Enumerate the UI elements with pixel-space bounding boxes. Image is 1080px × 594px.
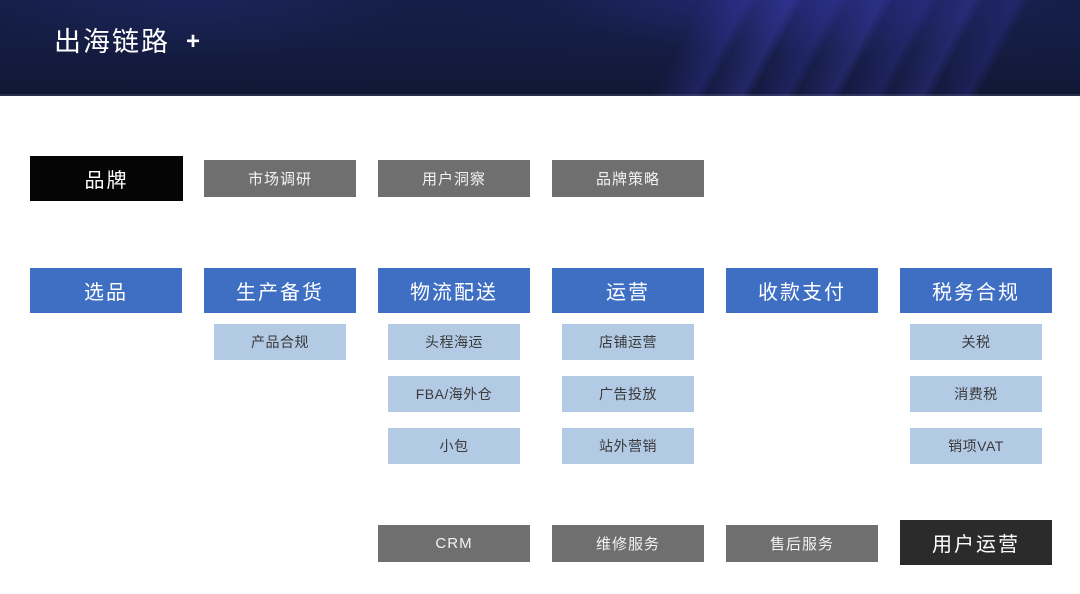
flow-diagram: 品牌 市场调研 用户洞察 品牌策略 选品 生产备货 物流配送 运营 收款支付 税… [0, 96, 1080, 594]
sub-node-tariff[interactable]: 关税 [910, 324, 1042, 360]
stage-node-payment[interactable]: 收款支付 [726, 268, 878, 313]
node-label: 用户运营 [932, 528, 1020, 557]
node-label: 店铺运营 [599, 332, 657, 352]
node-label: 头程海运 [425, 332, 483, 352]
node-label: 收款支付 [758, 276, 846, 305]
add-icon[interactable]: + [186, 22, 200, 62]
node-label: 关税 [962, 332, 991, 352]
sub-node-offsite-marketing[interactable]: 站外营销 [562, 428, 694, 464]
page-title: 出海链路 [54, 22, 170, 62]
brand-node-pinpai[interactable]: 品牌 [30, 156, 183, 201]
sub-node-product-compliance[interactable]: 产品合规 [214, 324, 346, 360]
sub-node-advertising[interactable]: 广告投放 [562, 376, 694, 412]
stage-node-selection[interactable]: 选品 [30, 268, 182, 313]
service-node-aftersales[interactable]: 售后服务 [726, 525, 878, 562]
sub-node-store-operations[interactable]: 店铺运营 [562, 324, 694, 360]
node-label: 选品 [84, 276, 128, 305]
node-label: CRM [435, 535, 472, 552]
service-node-repair[interactable]: 维修服务 [552, 525, 704, 562]
sub-node-output-vat[interactable]: 销项VAT [910, 428, 1042, 464]
node-label: 运营 [606, 276, 650, 305]
sub-node-small-parcel[interactable]: 小包 [388, 428, 520, 464]
stage-node-production[interactable]: 生产备货 [204, 268, 356, 313]
node-label: 生产备货 [236, 276, 324, 305]
node-label: 售后服务 [770, 533, 834, 554]
node-label: 产品合规 [251, 332, 309, 352]
stage-node-tax[interactable]: 税务合规 [900, 268, 1052, 313]
node-label: 税务合规 [932, 276, 1020, 305]
app-header: 出海链路 + [0, 0, 1080, 96]
service-node-user-operations[interactable]: 用户运营 [900, 520, 1052, 565]
node-label: 广告投放 [599, 384, 657, 404]
node-label: 消费税 [954, 384, 998, 404]
node-label: 物流配送 [410, 276, 498, 305]
node-label: 市场调研 [248, 168, 312, 189]
sub-node-consumption-tax[interactable]: 消费税 [910, 376, 1042, 412]
node-label: 用户洞察 [422, 168, 486, 189]
node-label: 维修服务 [596, 533, 660, 554]
sub-node-ocean-freight[interactable]: 头程海运 [388, 324, 520, 360]
brand-node-user-insight[interactable]: 用户洞察 [378, 160, 530, 197]
node-label: 销项VAT [948, 436, 1004, 456]
service-node-crm[interactable]: CRM [378, 525, 530, 562]
brand-node-market-research[interactable]: 市场调研 [204, 160, 356, 197]
node-label: 小包 [440, 436, 469, 456]
stage-node-operations[interactable]: 运营 [552, 268, 704, 313]
node-label: 品牌 [85, 164, 129, 193]
node-label: 品牌策略 [596, 168, 660, 189]
node-label: 站外营销 [599, 436, 657, 456]
node-label: FBA/海外仓 [416, 384, 493, 404]
header-title-group: 出海链路 + [54, 22, 200, 62]
brand-node-brand-strategy[interactable]: 品牌策略 [552, 160, 704, 197]
sub-node-fba-overseas-warehouse[interactable]: FBA/海外仓 [388, 376, 520, 412]
stage-node-logistics[interactable]: 物流配送 [378, 268, 530, 313]
